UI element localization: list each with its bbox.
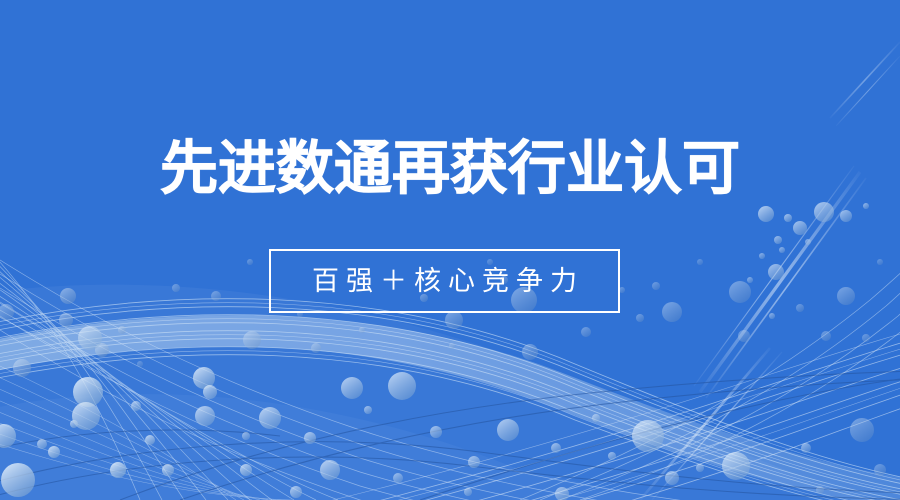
subtitle-text: 百强＋核心竞争力 — [305, 266, 584, 296]
promo-banner: 先进数通再获行业认可 百强＋核心竞争力 — [0, 0, 900, 500]
banner-content: 先进数通再获行业认可 百强＋核心竞争力 — [0, 0, 900, 500]
subtitle-badge: 百强＋核心竞争力 — [269, 249, 620, 313]
page-title: 先进数通再获行业认可 — [0, 133, 900, 205]
